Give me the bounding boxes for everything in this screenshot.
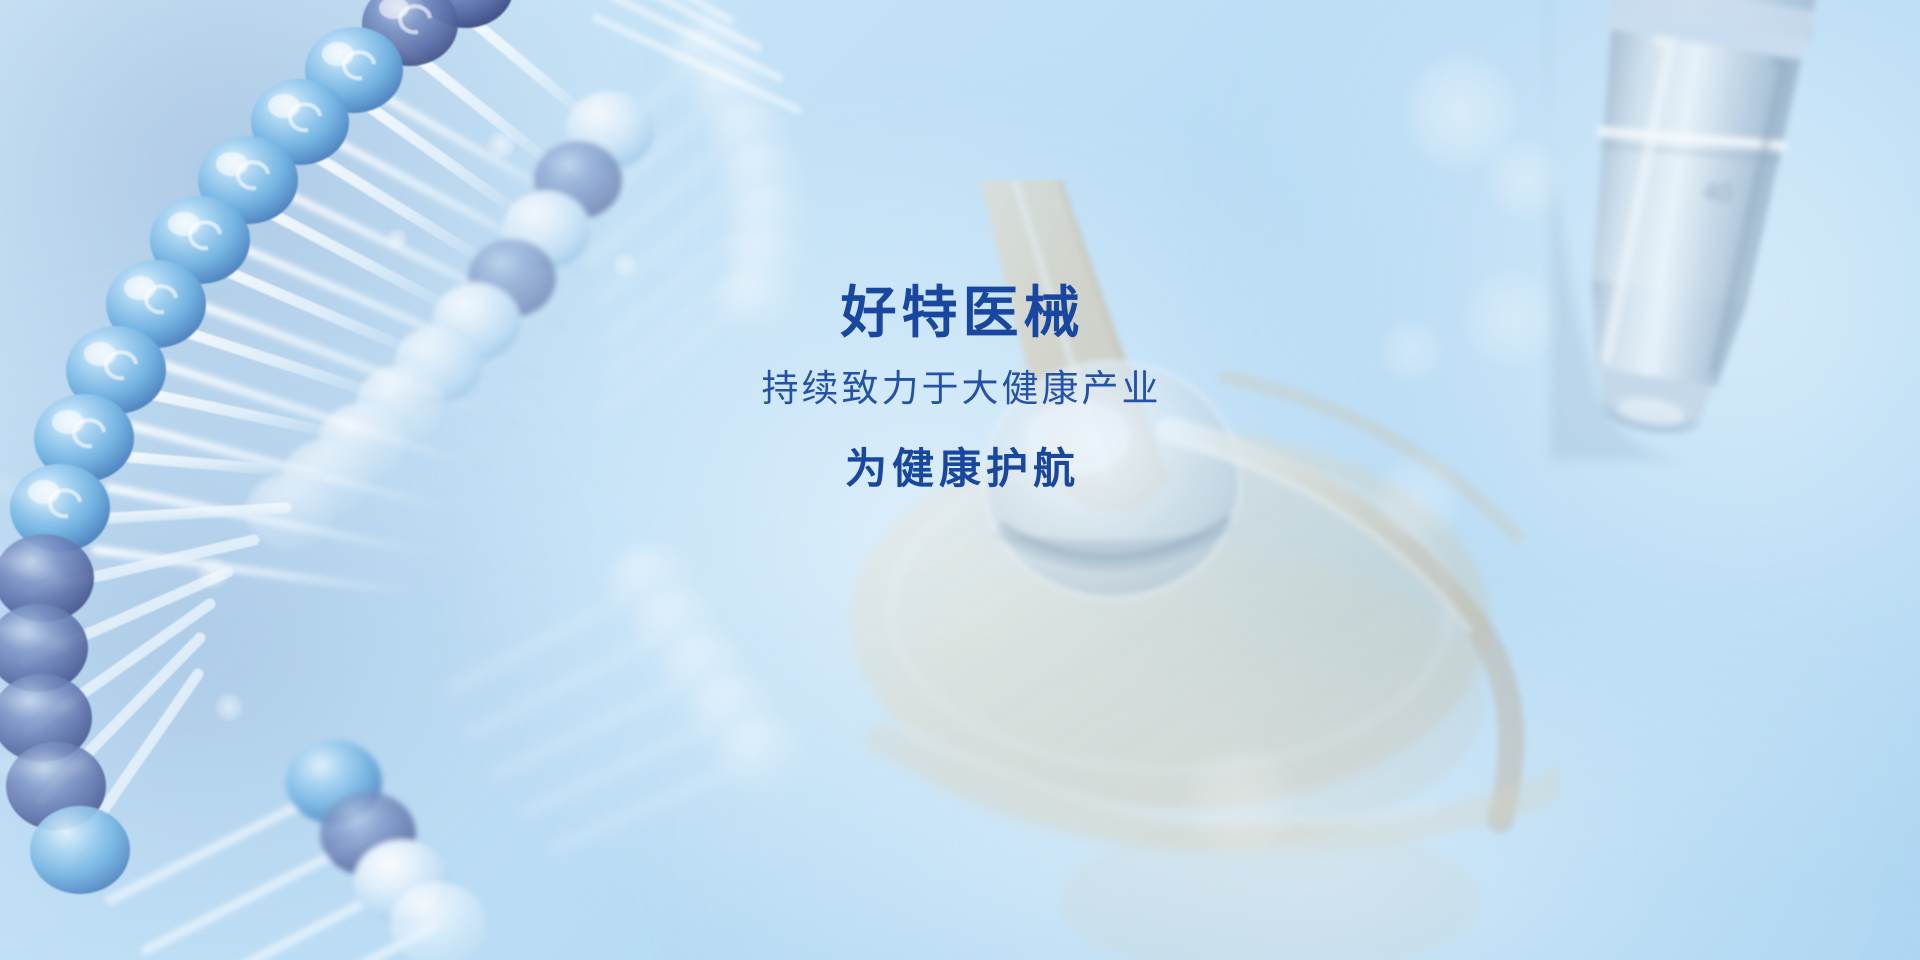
- svg-text:40: 40: [1702, 176, 1733, 208]
- bokeh-light: [196, 556, 230, 590]
- bokeh-light: [486, 130, 516, 160]
- hero-subtitle: 持续致力于大健康产业: [0, 369, 1920, 410]
- bokeh-light: [1180, 740, 1300, 860]
- background-wash-center: [480, 120, 1380, 960]
- background-wash-bottom: [700, 640, 1900, 960]
- hero-banner: 40: [0, 0, 1920, 960]
- hero-tagline: 为健康护航: [0, 446, 1920, 492]
- bokeh-light: [612, 252, 638, 278]
- page-title: 好特医械: [0, 283, 1920, 343]
- bokeh-light: [1400, 52, 1520, 172]
- hero-copy: 好特医械 持续致力于大健康产业 为健康护航: [0, 283, 1920, 492]
- bokeh-light: [214, 692, 244, 722]
- bokeh-light: [386, 228, 408, 250]
- bokeh-light: [1484, 138, 1566, 220]
